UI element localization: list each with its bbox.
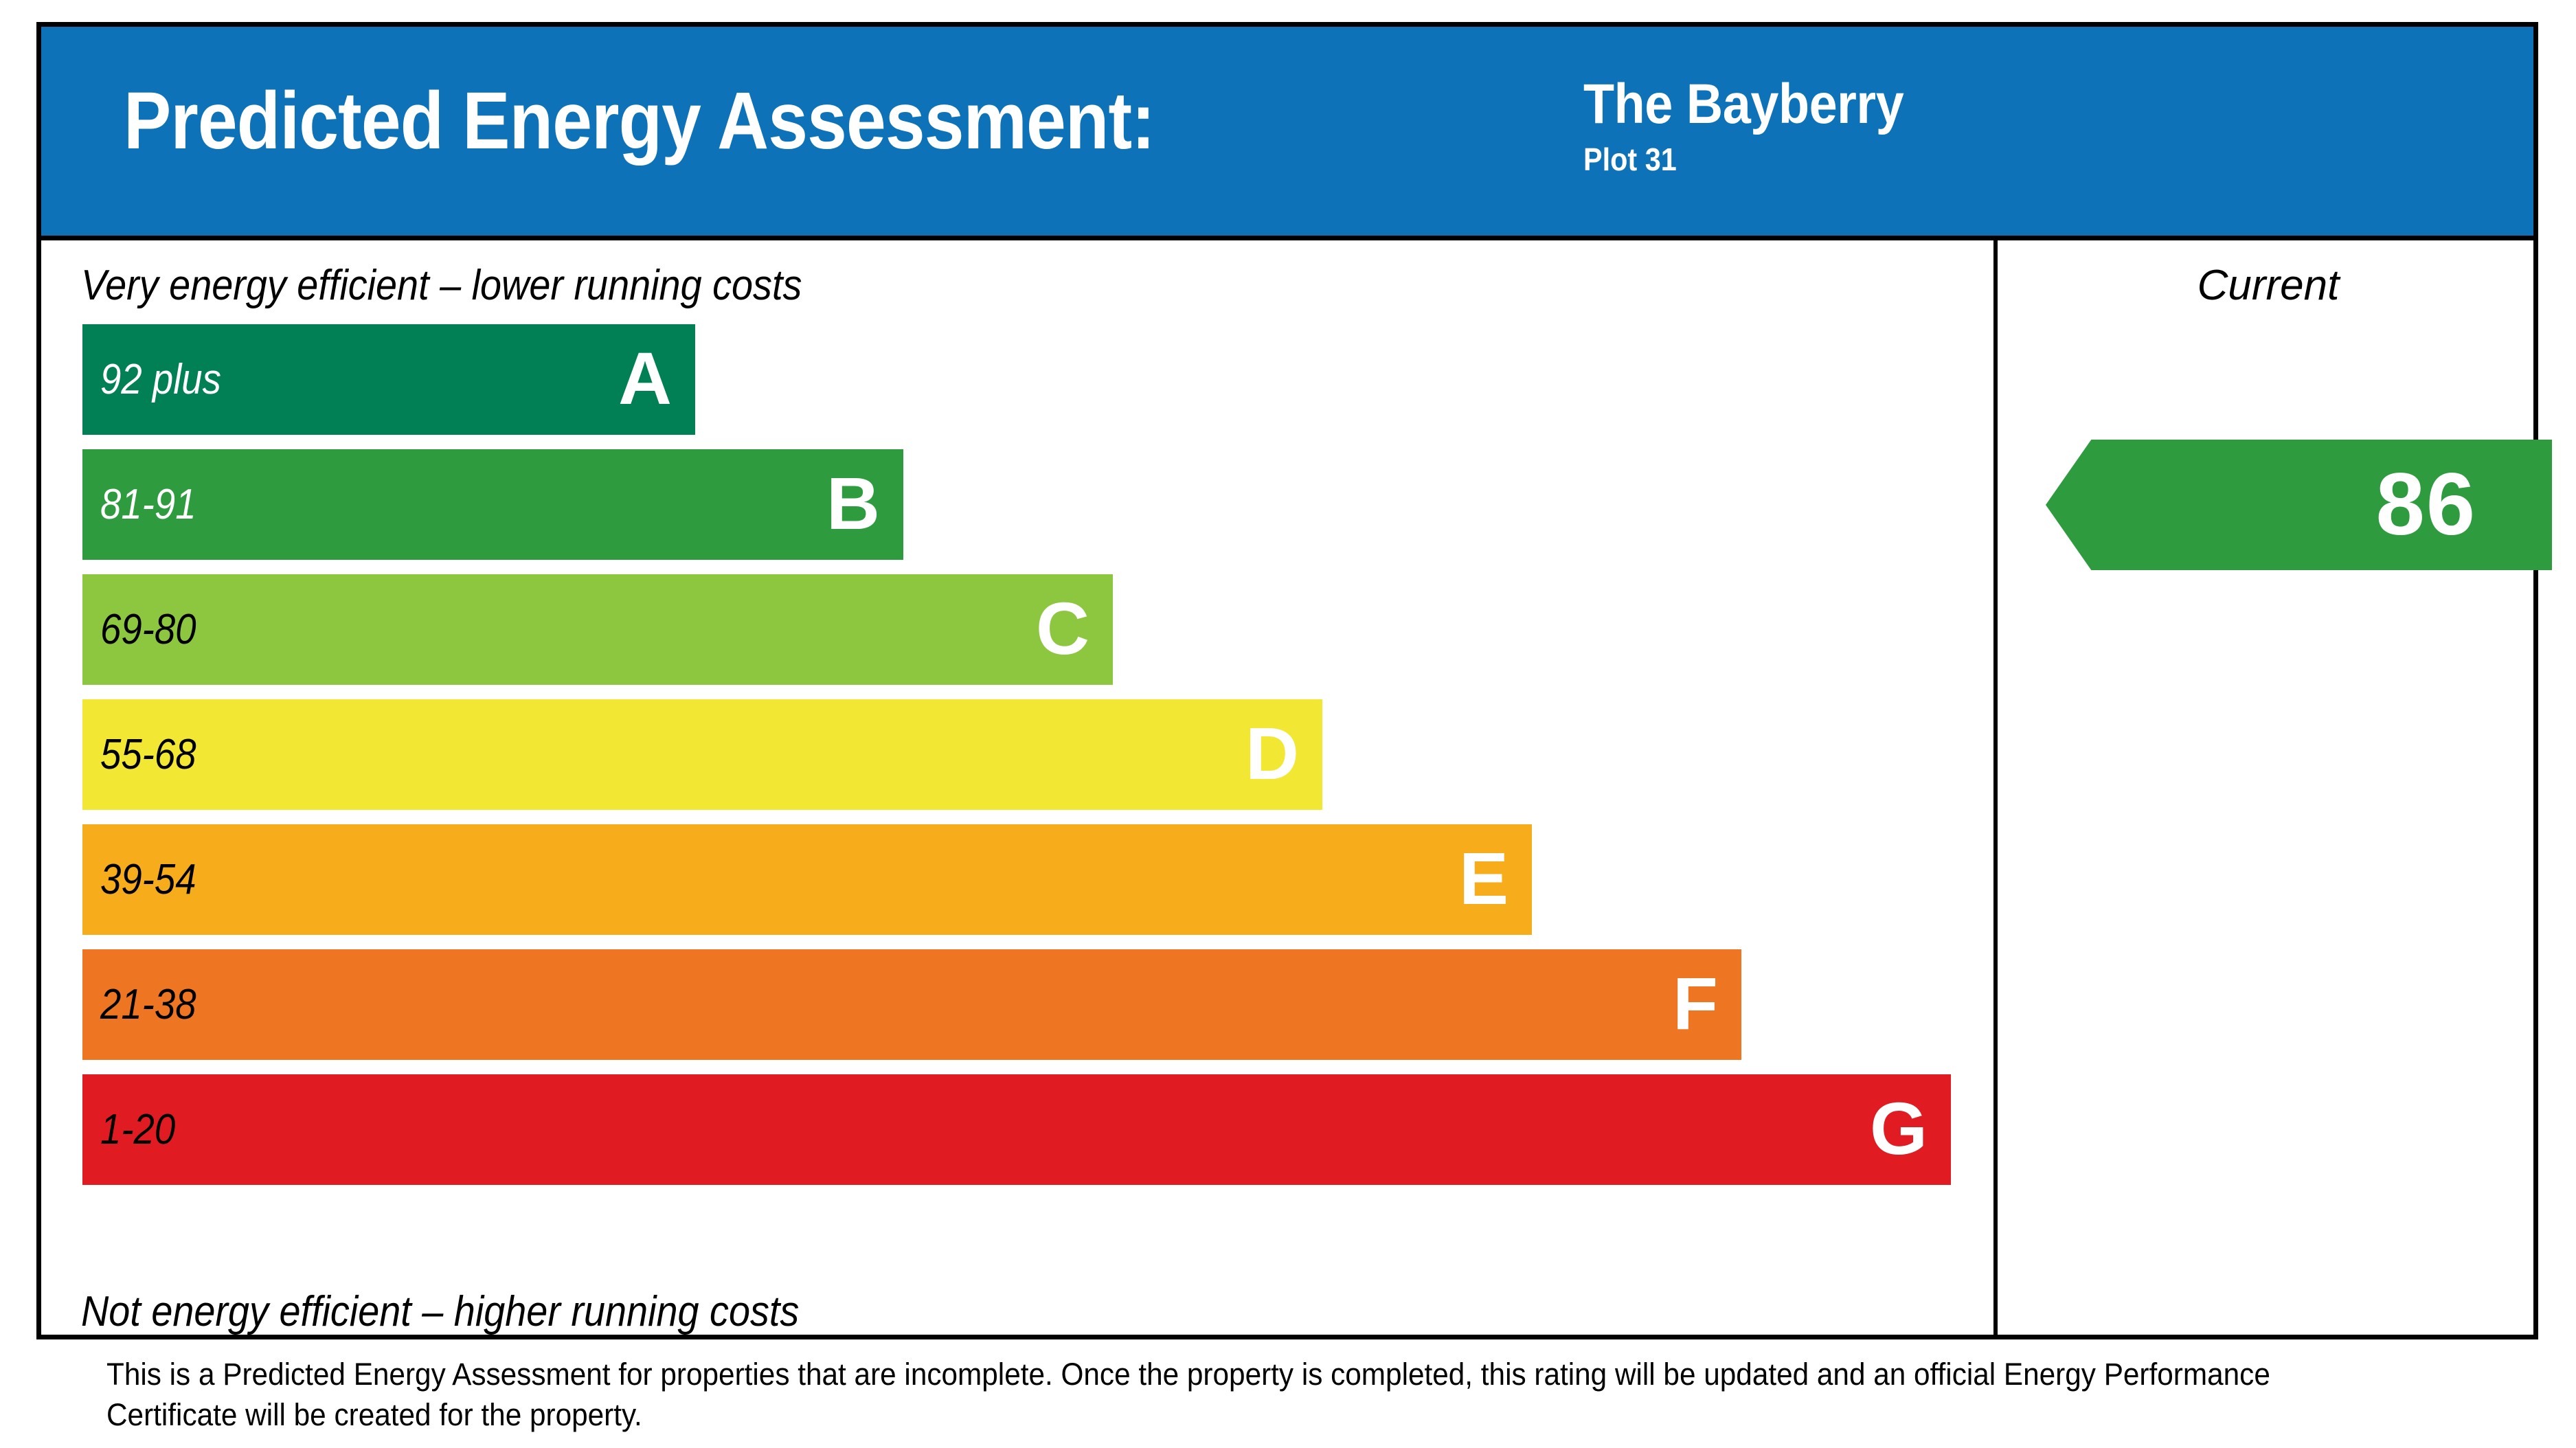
certificate-body: Very energy efficient – lower running co… [41, 240, 2533, 1335]
property-plot-number: Plot 31 [1583, 144, 1903, 175]
band-letter-g: G [1870, 1091, 1928, 1165]
column-header-current: Current [1993, 261, 2543, 310]
band-letter-f: F [1673, 966, 1718, 1040]
band-letter-c: C [1036, 591, 1089, 665]
energy-band-c: 69-80C [82, 574, 1113, 685]
page-title: Predicted Energy Assessment: [124, 80, 1155, 161]
band-range-label-d: 55-68 [100, 734, 196, 776]
current-rating-arrow: 86 [2046, 440, 2552, 570]
band-range-label-b: 81-91 [100, 484, 196, 526]
certificate-frame: Predicted Energy Assessment: The Bayberr… [36, 22, 2538, 1339]
energy-band-d: 55-68D [82, 699, 1322, 810]
band-letter-d: D [1245, 716, 1299, 790]
band-letter-b: B [826, 466, 880, 540]
energy-band-b: 81-91B [82, 449, 903, 560]
header-band: Predicted Energy Assessment: The Bayberr… [41, 27, 2533, 240]
band-range-label-f: 21-38 [100, 984, 196, 1026]
energy-band-f: 21-38F [82, 949, 1741, 1060]
band-letter-e: E [1459, 841, 1509, 915]
band-letter-a: A [618, 341, 672, 415]
band-range-label-g: 1-20 [100, 1109, 175, 1151]
caption-not-efficient: Not energy efficient – higher running co… [81, 1287, 799, 1336]
energy-band-g: 1-20G [82, 1074, 1951, 1185]
energy-band-e: 39-54E [82, 824, 1532, 935]
energy-band-a: 92 plusA [82, 324, 695, 435]
energy-band-list: 92 plusA81-91B69-80C55-68D39-54E21-38F1-… [41, 240, 1993, 1335]
footnote-text: This is a Predicted Energy Assessment fo… [106, 1355, 2347, 1435]
property-name: The Bayberry [1583, 76, 1903, 133]
band-range-label-e: 39-54 [100, 859, 196, 901]
property-block: The Bayberry Plot 31 [1583, 76, 1939, 175]
column-divider [1993, 240, 1998, 1335]
predicted-energy-assessment-certificate: Predicted Energy Assessment: The Bayberr… [0, 0, 2576, 1448]
band-range-label-c: 69-80 [100, 609, 196, 651]
band-range-label-a: 92 plus [100, 359, 221, 401]
current-rating-value: 86 [2376, 461, 2476, 549]
